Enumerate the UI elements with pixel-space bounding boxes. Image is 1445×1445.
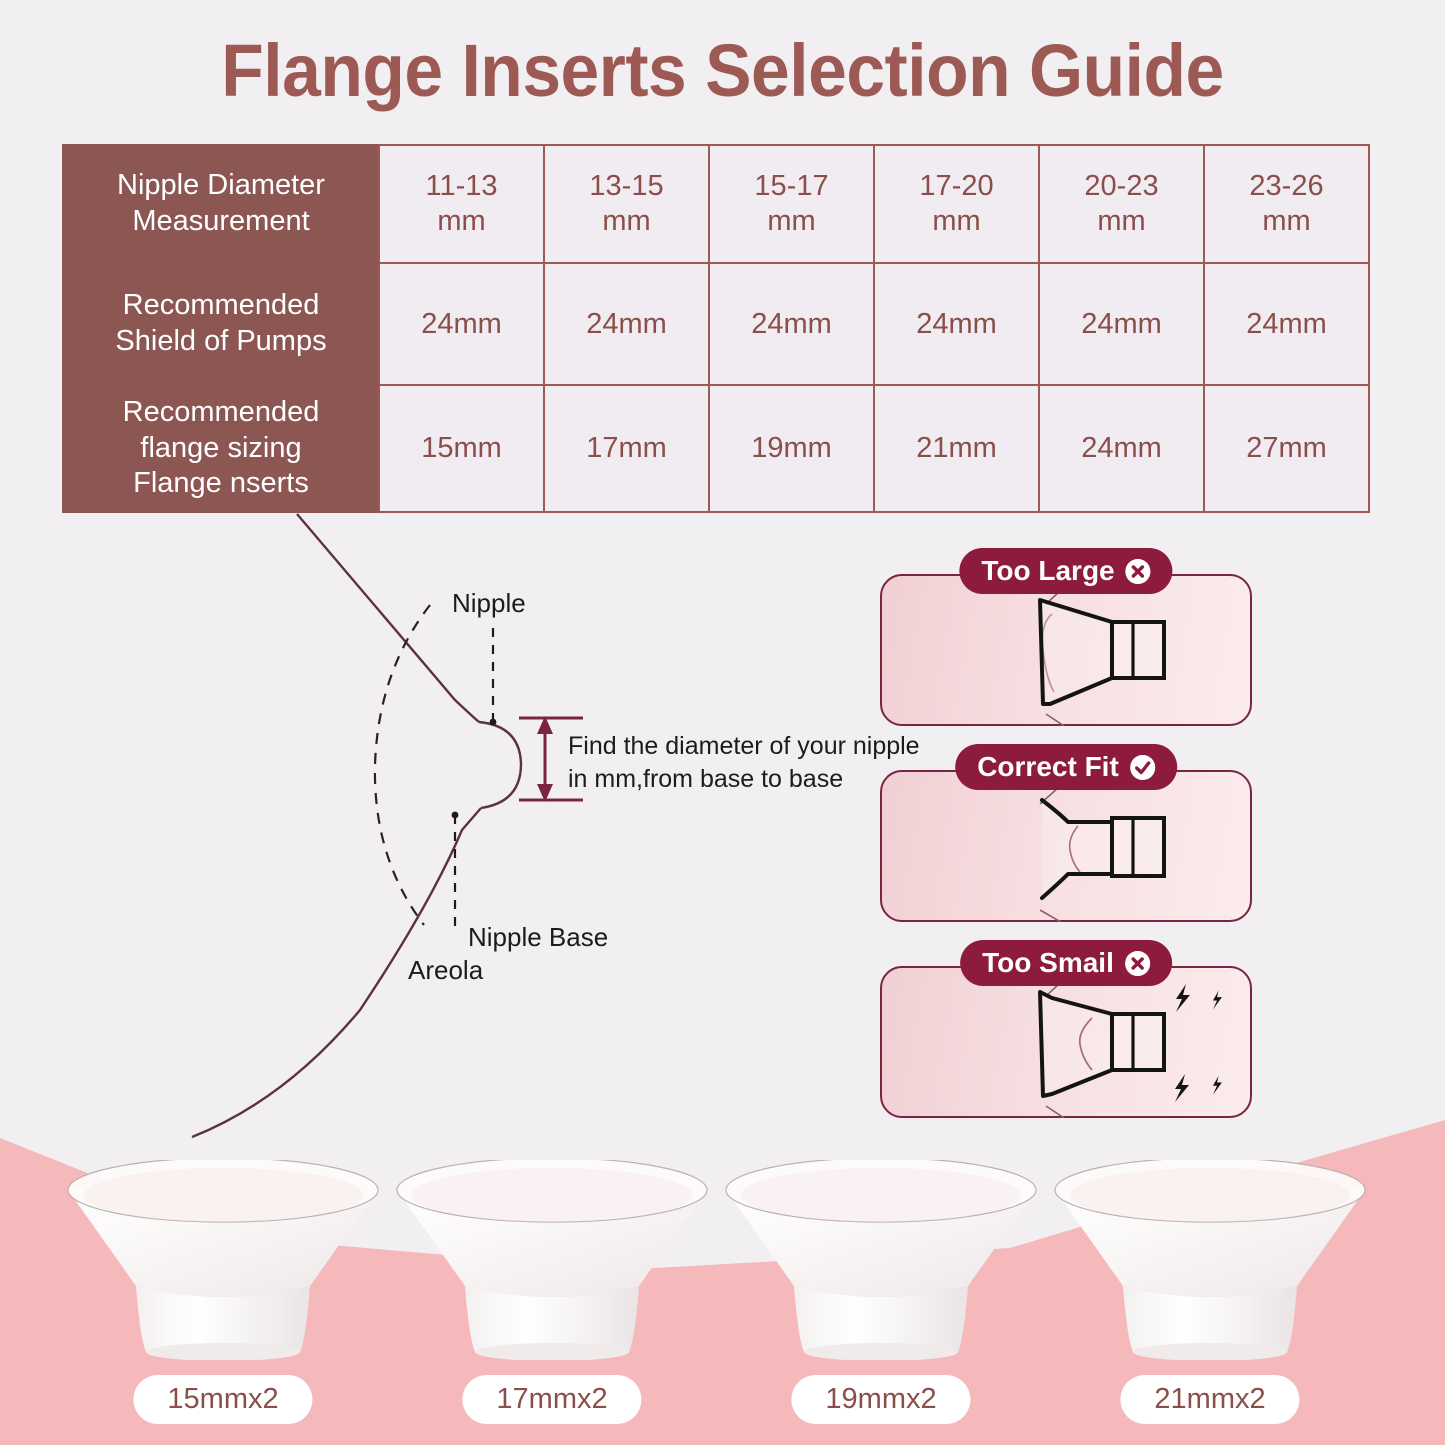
flange-illustration-too-small bbox=[880, 966, 1252, 1118]
label-nipple: Nipple bbox=[452, 588, 526, 619]
nipple-base-leader-dot bbox=[452, 812, 459, 819]
table-cell: 24mm bbox=[1204, 263, 1369, 385]
cell-unit: mm bbox=[1205, 204, 1368, 239]
product-size-pill: 15mmx2 bbox=[133, 1375, 312, 1424]
nipple-leader-dot bbox=[490, 719, 497, 726]
flange-inner-shadow bbox=[83, 1168, 363, 1222]
product-gallery: 15mmx2 17mmx2 bbox=[0, 1160, 1445, 1445]
cell-value: 23-26 bbox=[1205, 169, 1368, 204]
product-size-pill: 21mmx2 bbox=[1120, 1375, 1299, 1424]
fit-badge-correct-fit: Correct Fit bbox=[955, 744, 1177, 790]
nipple-contour bbox=[479, 722, 521, 808]
measurement-instruction-line2: in mm,from base to base bbox=[568, 763, 920, 796]
fit-card-too-small: Too Smail bbox=[880, 940, 1252, 1118]
table-cell: 27mm bbox=[1204, 385, 1369, 512]
flange-insert-photo bbox=[58, 1160, 388, 1360]
fit-badge-label: Too Smail bbox=[982, 947, 1114, 979]
flange-insert-photo bbox=[716, 1160, 1046, 1360]
flange-inner-shadow bbox=[412, 1168, 692, 1222]
lightning-bolt-icon bbox=[1176, 984, 1190, 1012]
fit-card-correct-fit: Correct Fit bbox=[880, 744, 1252, 922]
flange-tube bbox=[1112, 1014, 1164, 1070]
fit-card-too-large: Too Large bbox=[880, 548, 1252, 726]
table-cell: 23-26 mm bbox=[1204, 145, 1369, 263]
pain-bolts-group bbox=[1175, 984, 1222, 1102]
flange-funnel bbox=[1040, 600, 1112, 704]
infographic-root: Flange Inserts Selection Guide Nipple Di… bbox=[0, 0, 1445, 1445]
flange-inner-shadow bbox=[1070, 1168, 1350, 1222]
product-item: 19mmx2 bbox=[716, 1160, 1046, 1360]
label-areola: Areola bbox=[408, 955, 483, 986]
fit-badge-label: Too Large bbox=[981, 555, 1114, 587]
flange-tube bbox=[1112, 622, 1164, 678]
label-nipple-base: Nipple Base bbox=[468, 922, 608, 953]
flange-insert-photo bbox=[387, 1160, 717, 1360]
lightning-bolt-icon bbox=[1213, 1076, 1222, 1095]
measurement-instruction: Find the diameter of your nipple in mm,f… bbox=[568, 730, 920, 796]
cell-value: 20-23 bbox=[1040, 169, 1203, 204]
fit-badge-too-large: Too Large bbox=[959, 548, 1172, 594]
product-item: 21mmx2 bbox=[1045, 1160, 1375, 1360]
cross-icon bbox=[1126, 559, 1151, 584]
fit-badge-label: Correct Fit bbox=[977, 751, 1119, 783]
product-item: 15mmx2 bbox=[58, 1160, 388, 1360]
cross-icon bbox=[1125, 951, 1150, 976]
lightning-bolt-icon bbox=[1213, 991, 1222, 1010]
cell-unit: mm bbox=[1040, 204, 1203, 239]
areola-dashed-arc bbox=[375, 605, 430, 925]
fit-comparison-group: Too Large Correct Fit bbox=[880, 548, 1270, 1136]
product-size-pill: 19mmx2 bbox=[791, 1375, 970, 1424]
flange-illustration-correct-fit bbox=[880, 770, 1252, 922]
lightning-bolt-icon bbox=[1175, 1074, 1189, 1102]
table-cell: 24mm bbox=[1039, 385, 1204, 512]
flange-funnel bbox=[1042, 800, 1112, 898]
flange-insert-photo bbox=[1045, 1160, 1375, 1360]
measurement-instruction-line1: Find the diameter of your nipple bbox=[568, 730, 920, 763]
product-item: 17mmx2 bbox=[387, 1160, 717, 1360]
product-size-pill: 17mmx2 bbox=[462, 1375, 641, 1424]
check-icon bbox=[1130, 755, 1155, 780]
table-cell: 24mm bbox=[1039, 263, 1204, 385]
fit-badge-too-small: Too Smail bbox=[960, 940, 1172, 986]
flange-inner-shadow bbox=[741, 1168, 1021, 1222]
table-cell: 20-23 mm bbox=[1039, 145, 1204, 263]
flange-tube bbox=[1112, 818, 1164, 876]
flange-illustration-too-large bbox=[880, 574, 1252, 726]
flange-funnel bbox=[1040, 992, 1112, 1096]
